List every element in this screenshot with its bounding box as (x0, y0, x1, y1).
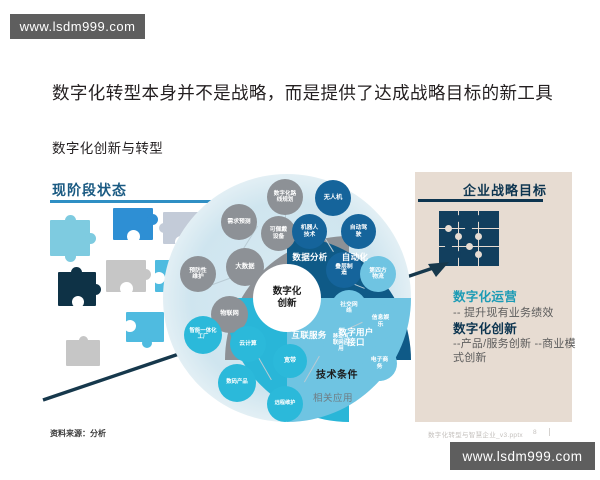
bubble-label: 数字化路 线规划 (274, 191, 296, 203)
quadrant-label-ui-line2: 接口 (333, 338, 379, 348)
body-digital-operations: -- 提升现有业务绩效 (453, 306, 578, 320)
strategic-goal-text-block: 数字化运营 -- 提升现有业务绩效 数字化创新 --产品/服务创新 --商业模式… (453, 290, 578, 365)
wheel-core: 数字化 创新 (253, 264, 321, 332)
quadrant-label-digital-user-interface: 数字用户 接口 (333, 328, 379, 348)
heading-digital-innovation: 数字化创新 (453, 322, 578, 338)
bubble-label: 电子商 务 (371, 357, 388, 370)
bubble-label: 数码产品 (226, 380, 248, 386)
quadrant-label-automation: 自动化 (335, 253, 375, 263)
watermark-top: www.lsdm999.com (10, 14, 145, 39)
quadrant-label-connected-services: 互联服务 (287, 331, 331, 341)
diagram-container: 现阶段状态 企业战略目标 (28, 172, 572, 422)
bubble-label: 信息娱 乐 (372, 315, 389, 328)
bubble-e-commerce: 电子商 务 (362, 346, 397, 381)
bubble-smart-integrated-factory: 智能一体化 工厂 (184, 316, 222, 354)
bubble-label: 无人机 (324, 195, 343, 202)
bubble-label: 机器人 技术 (301, 225, 318, 238)
heading-digital-operations: 数字化运营 (453, 290, 578, 306)
bubble-label: 远程维护 (275, 401, 296, 407)
wheel-core-line1: 数字化 (273, 286, 302, 298)
bubble-label: 预防性 维护 (189, 268, 206, 281)
footer-source: 资料来源：分析 (50, 428, 106, 439)
bubble-digital-products: 数码产品 (218, 364, 256, 402)
bubble-label: 自动驾 驶 (350, 225, 367, 238)
footer-file-name: 数字化转型与智慧企业_v3.pptx (428, 429, 523, 439)
bubble-label: 大数据 (235, 263, 254, 270)
label-related-applications: 相关应用 (313, 390, 353, 404)
bubble-preventive-maintenance: 预防性 维护 (180, 256, 216, 292)
bubble-label: 第四方 物流 (369, 268, 386, 281)
bubble-label: 需求预测 (227, 219, 250, 225)
digital-innovation-wheel: 数据分析 自动化 数字用户 接口 互联服务 数字化 创新 数字化路 线规划 需求… (163, 174, 413, 422)
bubble-social-network: 社交网 络 (331, 290, 367, 326)
wheel-core-line2: 创新 (277, 298, 296, 310)
bubble-label: 云计算 (239, 341, 256, 347)
bubble-demand-forecast: 需求预测 (221, 204, 257, 240)
bubble-cloud-computing: 云计算 (230, 326, 266, 362)
bubble-label: 叠层制 造 (335, 264, 352, 277)
quadrant-label-data-analysis: 数据分析 (289, 253, 331, 263)
page-subtitle: 数字化创新与转型 (52, 137, 163, 157)
body-digital-innovation: --产品/服务创新 --商业模式创新 (453, 337, 578, 365)
footer-divider (549, 428, 550, 436)
bubble-autonomous-driving: 自动驾 驶 (341, 214, 376, 249)
bubble-wearable-devices: 可佩戴 设备 (261, 216, 296, 251)
bubble-digital-roadmap: 数字化路 线规划 (267, 179, 303, 215)
page-title: 数字化转型本身并不是战略，而是提供了达成战略目标的新工具 (52, 80, 572, 105)
bubble-broadband: 宽带 (273, 344, 307, 378)
bubble-label: 社交网 络 (340, 302, 357, 315)
footer-page-number: 8 (533, 429, 537, 436)
label-technical-conditions: 技术条件 (316, 366, 358, 381)
bubble-label: 可佩戴 设备 (270, 227, 287, 240)
bubble-drone: 无人机 (315, 180, 351, 216)
bubble-robotics: 机器人 技术 (292, 214, 327, 249)
bubble-remote-maintenance: 远程维护 (267, 386, 303, 422)
slide-canvas: www.lsdm999.com 数字化转型本身并不是战略，而是提供了达成战略目标… (0, 0, 600, 480)
bubble-label: 宽带 (284, 358, 296, 365)
watermark-bottom: www.lsdm999.com (450, 442, 595, 470)
bubble-label: 智能一体化 工厂 (190, 329, 217, 341)
bubble-label: 物联网 (220, 311, 239, 318)
